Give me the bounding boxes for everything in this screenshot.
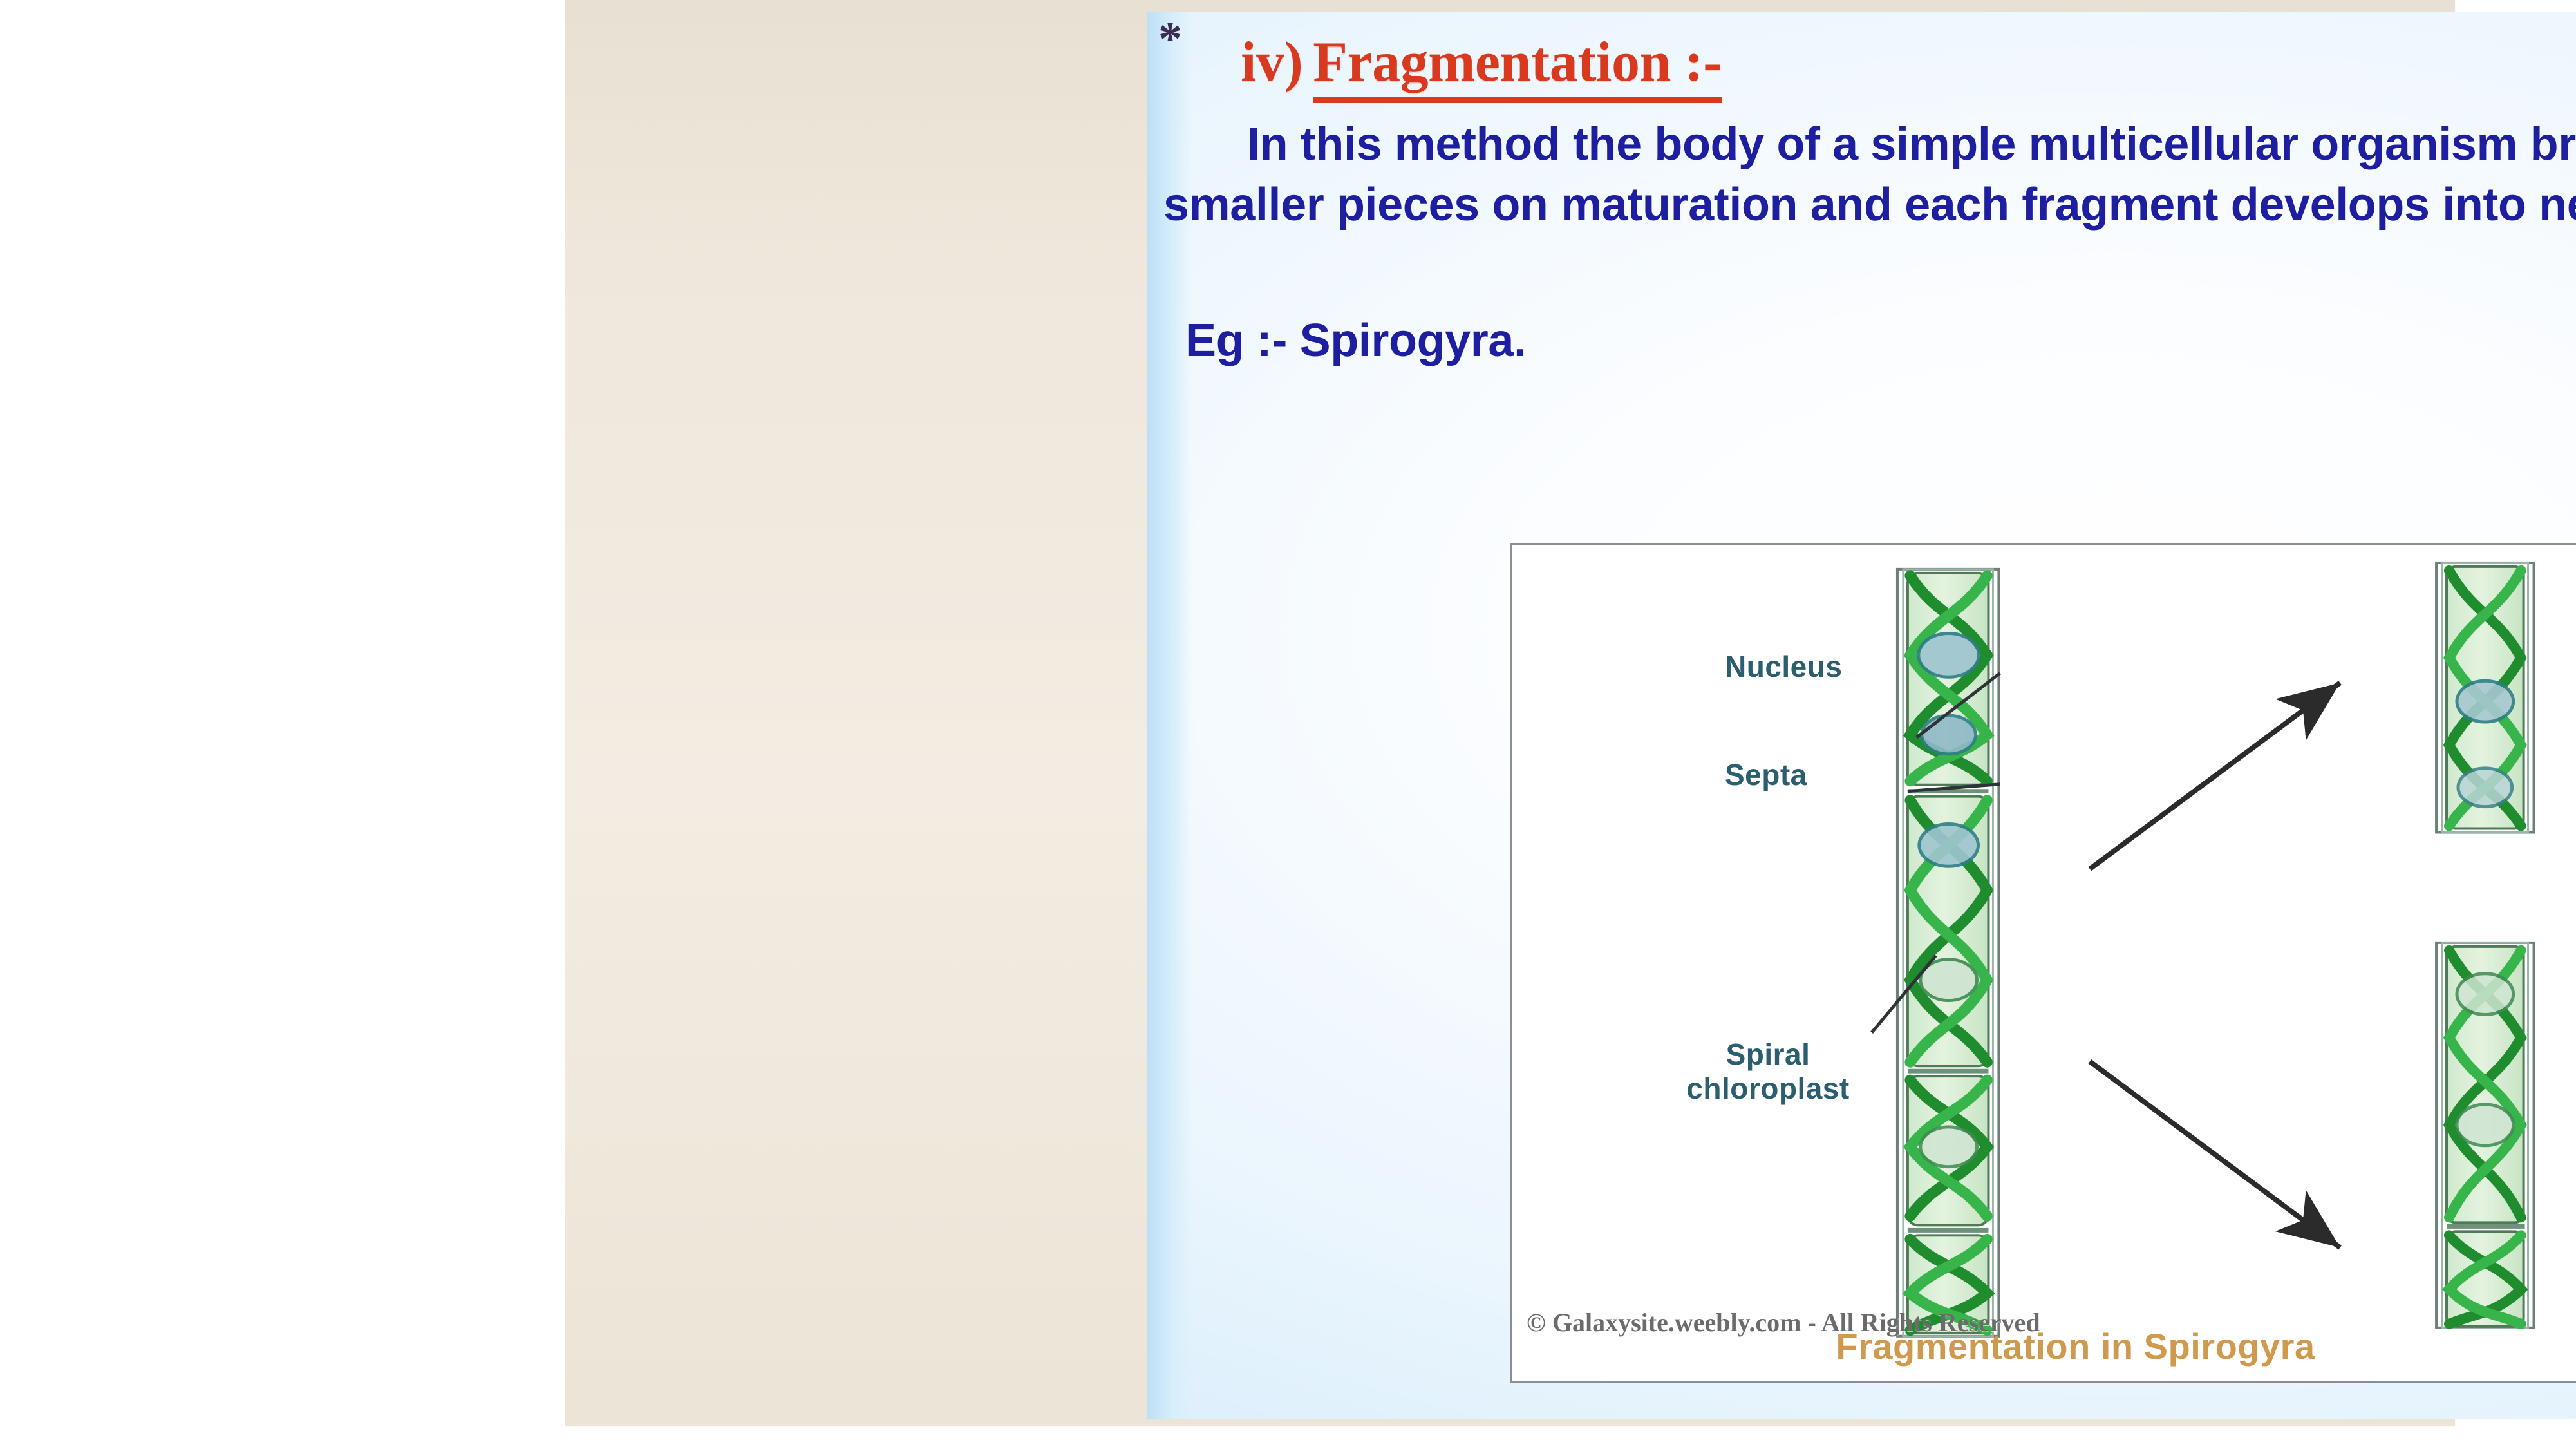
- fragment-upper: [2436, 563, 2534, 833]
- label-spiral-chloroplast: Spiral chloroplast: [1662, 1037, 1874, 1106]
- title-heading-underlined: Fragmentation :-: [1313, 31, 1722, 103]
- label-spiral-line2: chloroplast: [1686, 1072, 1849, 1105]
- label-septa: Septa: [1725, 757, 1807, 792]
- page-root: * iv)Fragmentation :- In this method the…: [0, 0, 2576, 1449]
- asterisk-bullet-icon: *: [1158, 15, 1182, 63]
- slide-title: iv)Fragmentation :-: [1241, 30, 1722, 95]
- diagram-image-frame: Nucleus Septa Spiral chloroplast Fragmen…: [1510, 543, 2576, 1383]
- slide-outer-frame: * iv)Fragmentation :- In this method the…: [565, 0, 2455, 1426]
- spirogyra-diagram-svg: [1512, 545, 2576, 1383]
- title-numeral: iv): [1241, 31, 1313, 93]
- body-paragraph: In this method the body of a simple mult…: [1163, 115, 2576, 235]
- paragraph-text: In this method the body of a simple mult…: [1163, 118, 2576, 231]
- example-line: Eg :- Spirogyra.: [1185, 314, 1527, 367]
- fragment-lower: [2436, 943, 2534, 1328]
- copyright-watermark: © Galaxysite.weebly.com - All Rights Res…: [1527, 1307, 2040, 1338]
- presentation-slide: * iv)Fragmentation :- In this method the…: [1147, 12, 2576, 1419]
- label-spiral-line1: Spiral: [1726, 1037, 1810, 1071]
- label-nucleus: Nucleus: [1725, 649, 1842, 684]
